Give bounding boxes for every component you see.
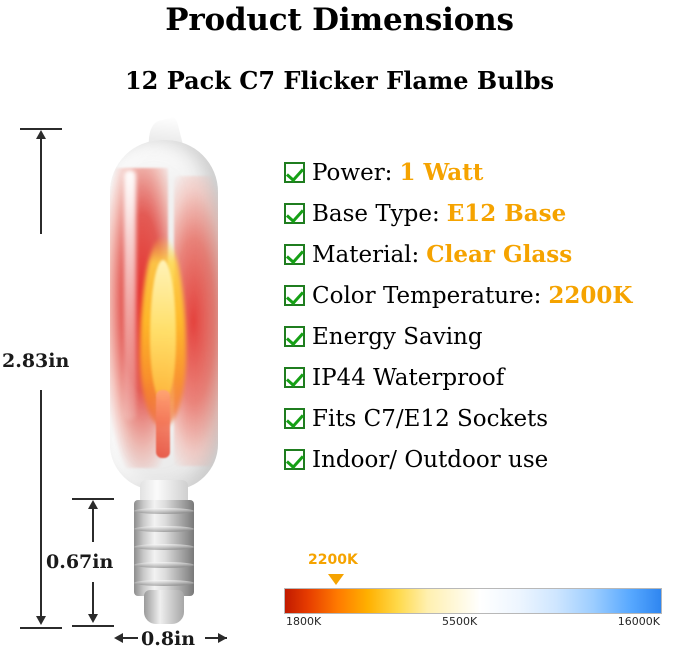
dim-total-bottom-cap [20,627,62,629]
feature-item-power: Power: 1 Watt [284,152,679,193]
feature-item-color-temperature: Color Temperature: 2200K [284,275,679,316]
kelvin-tick-max: 16000K [618,615,660,628]
kelvin-tick-labels: 1800K 5500K 16000K [284,615,662,633]
bulb-e12-base [134,500,194,596]
feature-item-energy-saving: Energy Saving [284,316,679,357]
dim-width-label: 0.8in [141,628,195,650]
bulb-glass-envelope [110,140,218,490]
checkbox-icon [284,367,305,388]
product-dimensions-infographic: Product Dimensions 12 Pack C7 Flicker Fl… [0,0,679,651]
checkbox-icon [284,449,305,470]
feature-list: Power: 1 Watt Base Type: E12 Base Materi… [284,152,679,480]
kelvin-tick-min: 1800K [286,615,321,628]
feature-item-material: Material: Clear Glass [284,234,679,275]
kelvin-marker-arrow-icon [328,574,344,585]
feature-label: Base Type: [312,201,440,227]
dim-total-line-lower [40,390,42,620]
kelvin-tick-mid: 5500K [442,615,477,628]
bulb-illustration [92,120,252,630]
page-title: Product Dimensions [0,2,679,38]
feature-label: IP44 Waterproof [312,365,504,391]
dim-total-line [40,134,42,234]
feature-value: Clear Glass [426,241,572,268]
checkbox-icon [284,326,305,347]
checkbox-icon [284,162,305,183]
kelvin-marker-label: 2200K [308,552,358,568]
feature-item-indoor-outdoor: Indoor/ Outdoor use [284,439,679,480]
color-temperature-scale: 2200K 1800K 5500K 16000K [284,588,662,633]
feature-item-sockets: Fits C7/E12 Sockets [284,398,679,439]
dim-total-label: 2.83in [2,350,69,372]
feature-item-base-type: Base Type: E12 Base [284,193,679,234]
bulb-filament [156,390,170,458]
feature-value: E12 Base [447,200,566,227]
feature-label: Power: [312,160,392,186]
checkbox-icon [284,244,305,265]
feature-label: Indoor/ Outdoor use [312,447,548,473]
feature-item-waterproof: IP44 Waterproof [284,357,679,398]
checkbox-icon [284,408,305,429]
feature-label: Energy Saving [312,324,483,350]
checkbox-icon [284,203,305,224]
checkbox-icon [284,285,305,306]
bulb-base-contact-tip [144,590,184,624]
dim-width-arrow-right [218,633,227,643]
dim-width-arrow-left [114,633,123,643]
feature-value: 2200K [548,282,632,309]
bulb-glass-highlight [124,170,136,420]
kelvin-gradient-bar [284,588,662,614]
dim-total-arrow-down [36,616,46,625]
feature-label: Fits C7/E12 Sockets [312,406,548,432]
feature-value: 1 Watt [399,159,483,186]
feature-label: Material: [312,242,419,268]
feature-label: Color Temperature: [312,283,541,309]
page-subtitle: 12 Pack C7 Flicker Flame Bulbs [0,66,679,95]
dim-total-arrow-up [36,130,46,139]
